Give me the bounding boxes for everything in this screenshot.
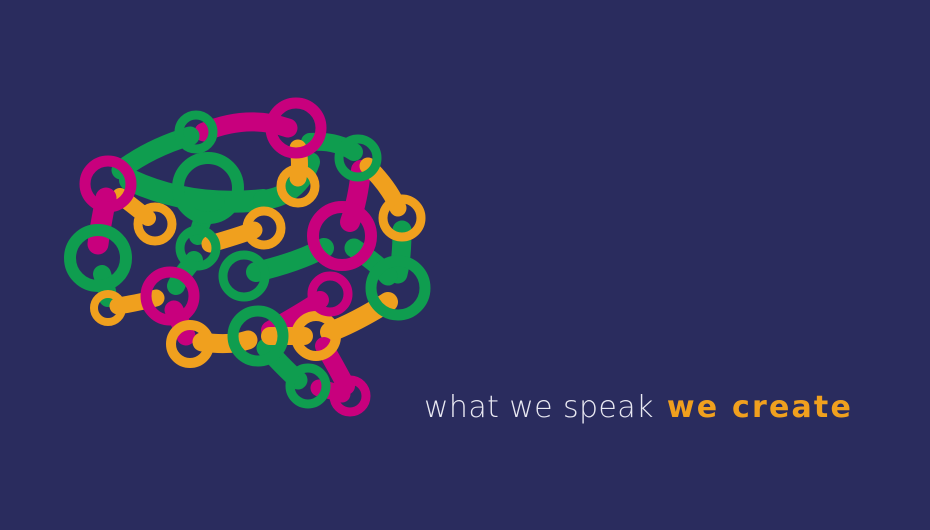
tagline-accent-text: we create — [667, 390, 853, 425]
tagline: what we speak we create — [424, 390, 853, 426]
tagline-light-text: what we speak — [424, 390, 654, 425]
brain-network-logo: .g { fill: none; stroke: #0f9d4f; } .m {… — [58, 96, 432, 432]
splash-screen: .g { fill: none; stroke: #0f9d4f; } .m {… — [0, 0, 930, 530]
